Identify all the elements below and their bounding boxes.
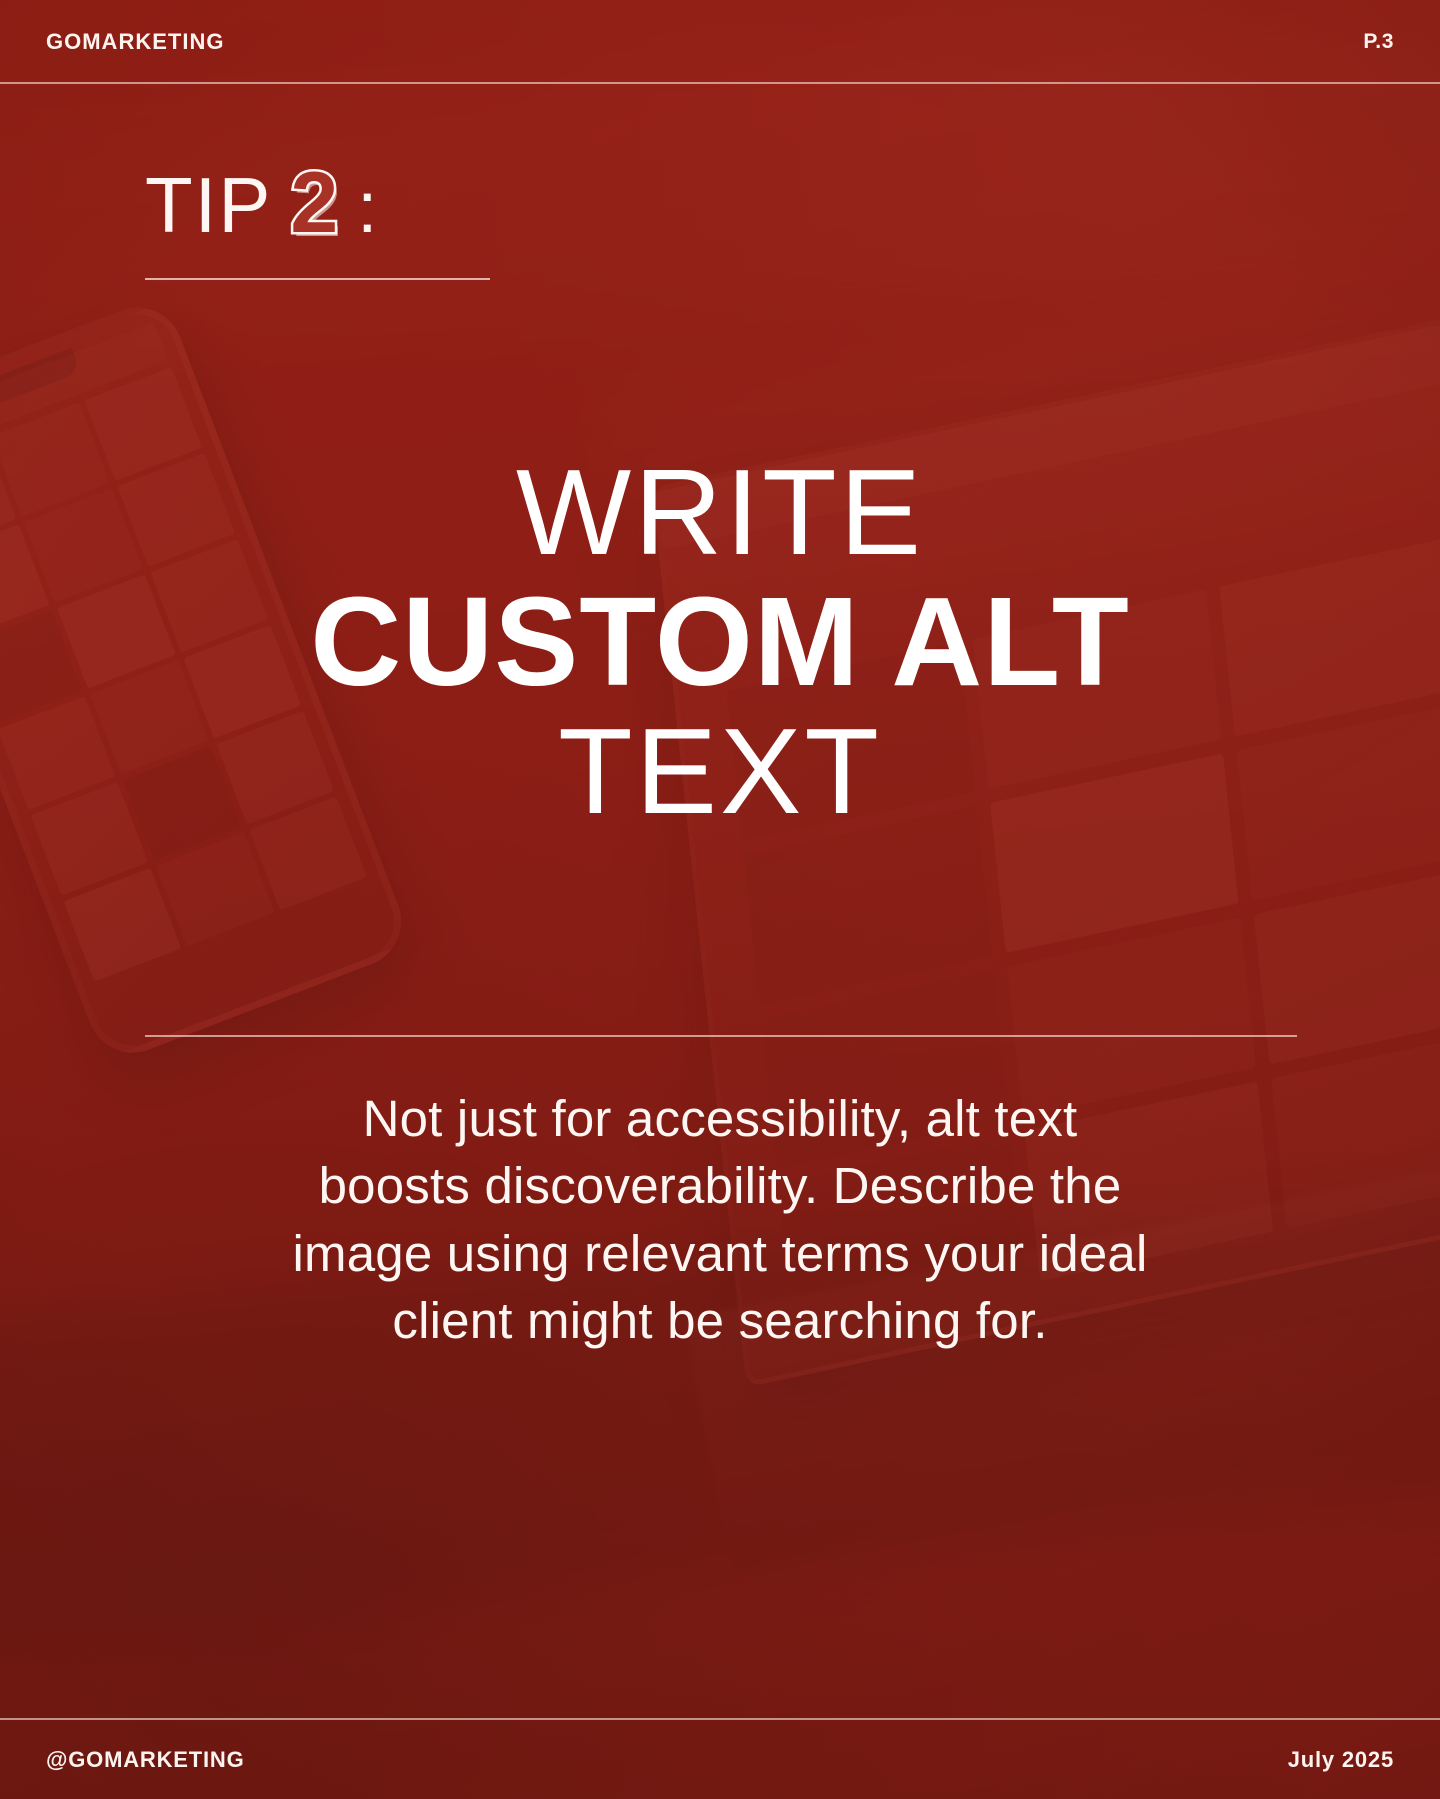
header-divider [0, 82, 1440, 84]
body-divider [145, 1035, 1297, 1037]
tip-label-block: TIP 2 : [145, 160, 490, 280]
headline-line-2: CUSTOM ALT [0, 578, 1440, 707]
body-paragraph: Not just for accessibility, alt text boo… [290, 1085, 1150, 1354]
tip-word: TIP [145, 166, 272, 244]
tip-number: 2 [290, 160, 339, 246]
brand-name: GOMARKETING [46, 29, 224, 55]
tip-underline [145, 278, 490, 280]
headline-block: WRITE CUSTOM ALT TEXT [0, 450, 1440, 833]
page-number: P.3 [1363, 30, 1394, 54]
tip-colon: : [357, 172, 377, 244]
slide-footer: @GOMARKETING July 2025 [0, 1720, 1440, 1799]
social-handle: @GOMARKETING [46, 1747, 245, 1773]
slide-header: GOMARKETING P.3 [0, 0, 1440, 83]
headline-line-3: TEXT [0, 709, 1440, 833]
headline-line-1: WRITE [0, 450, 1440, 574]
slide-content: GOMARKETING P.3 TIP 2 : WRITE CUSTOM ALT… [0, 0, 1440, 1799]
issue-date: July 2025 [1288, 1747, 1394, 1773]
social-tip-slide: GOMARKETING P.3 TIP 2 : WRITE CUSTOM ALT… [0, 0, 1440, 1799]
